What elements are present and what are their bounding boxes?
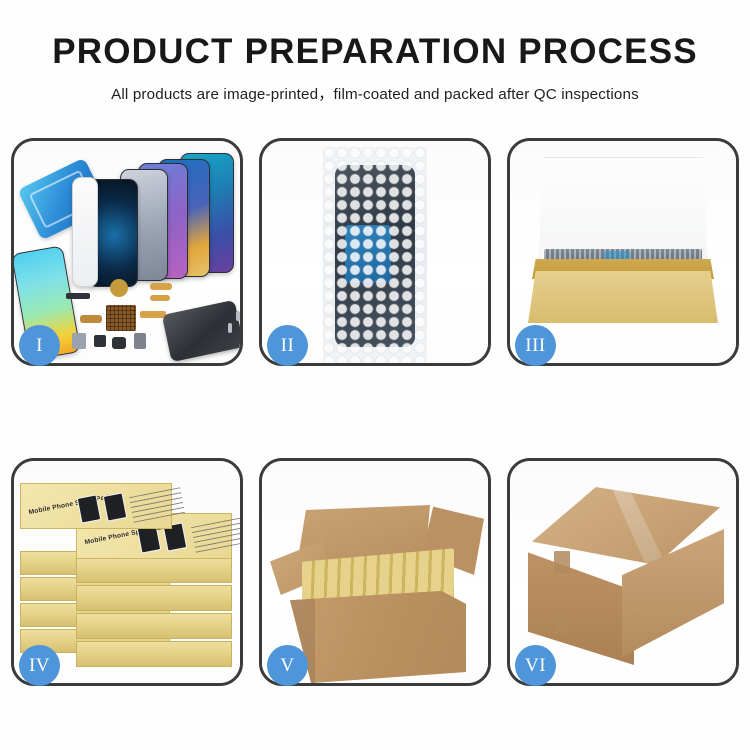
bubble-highlights xyxy=(323,147,427,363)
part-sim-tray xyxy=(72,333,86,349)
step-card-5: V xyxy=(259,458,491,686)
stacked-box-right-1 xyxy=(76,641,232,667)
page-subtitle: All products are image-printed，film-coat… xyxy=(0,82,750,104)
tape-tab-upper xyxy=(554,551,570,573)
steps-grid: I II xyxy=(11,138,739,686)
step-badge-2: II xyxy=(267,325,308,366)
box-base xyxy=(528,271,718,323)
stacked-box-right-4 xyxy=(76,557,232,583)
part-connector xyxy=(80,315,102,323)
open-shipping-carton xyxy=(276,483,480,675)
stacked-box-right-3 xyxy=(76,585,232,611)
step-badge-4: IV xyxy=(19,645,60,686)
step-badge-5: V xyxy=(267,645,308,686)
header: PRODUCT PREPARATION PROCESS All products… xyxy=(0,0,750,104)
step-card-4: Mobile Phone Spare Parts Mobile Phone Sp… xyxy=(11,458,243,686)
part-flex-cable-3 xyxy=(140,311,166,318)
part-vibrator xyxy=(134,333,146,349)
part-screw-2 xyxy=(228,323,232,333)
part-flex-cable-2 xyxy=(150,295,170,301)
infographic-page: PRODUCT PREPARATION PROCESS All products… xyxy=(0,0,750,750)
spare-parts-group xyxy=(66,271,240,357)
lid-phone-image-2 xyxy=(103,492,128,521)
stacked-box-right-2 xyxy=(76,613,232,639)
step-card-1: I xyxy=(11,138,243,366)
box-stack: Mobile Phone Spare Parts Mobile Phone Sp… xyxy=(20,479,240,679)
part-camera-module xyxy=(112,337,126,349)
part-chip-array xyxy=(106,305,136,331)
retail-box-label-1: Mobile Phone Spare Parts xyxy=(28,493,114,516)
part-speaker-mesh xyxy=(66,293,90,299)
part-coil xyxy=(110,279,128,297)
step-card-3: III xyxy=(507,138,739,366)
step-badge-3: III xyxy=(515,325,556,366)
lid-spec-lines-2 xyxy=(191,517,240,552)
step-card-6: VI xyxy=(507,458,739,686)
tape-tab-lower xyxy=(556,613,570,633)
carton-body xyxy=(290,591,466,683)
part-flex-cable-1 xyxy=(150,283,172,290)
page-title: PRODUCT PREPARATION PROCESS xyxy=(0,34,750,71)
part-screw-1 xyxy=(236,311,240,321)
step-card-2: II xyxy=(259,138,491,366)
part-button xyxy=(94,335,106,347)
step-badge-6: VI xyxy=(515,645,556,686)
bubble-wrap-bag xyxy=(323,147,427,363)
retail-box-lid-1: Mobile Phone Spare Parts xyxy=(20,483,172,529)
open-mailer-box xyxy=(528,157,718,323)
sealed-shipping-carton xyxy=(528,487,724,665)
step-badge-1: I xyxy=(19,325,60,366)
